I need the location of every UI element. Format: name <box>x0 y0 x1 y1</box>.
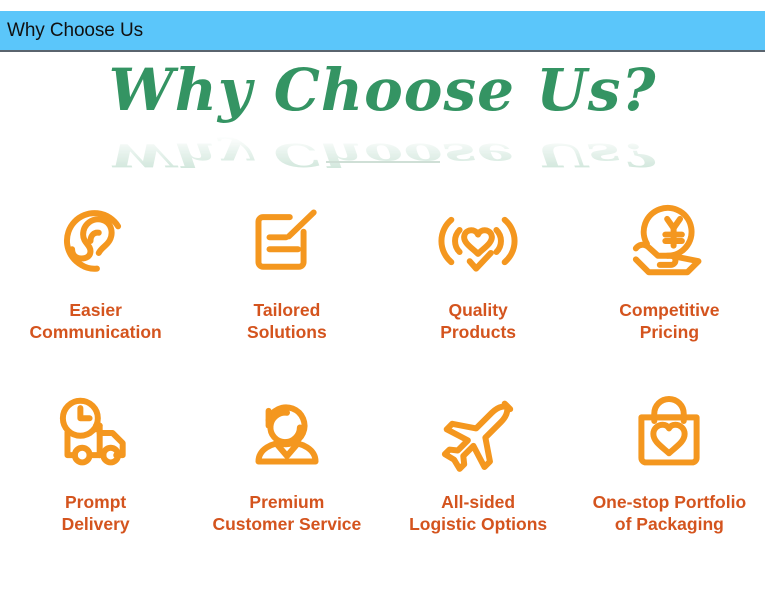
feature-label: Premium Customer Service <box>212 491 361 535</box>
page-content: Why Choose Us? Why Choose Us? Easier Com… <box>0 53 765 599</box>
delivery-truck-clock-icon <box>50 387 142 479</box>
feature-item-quality-products[interactable]: Quality Products <box>383 195 574 343</box>
heart-signal-check-icon <box>432 195 524 287</box>
heading-divider <box>326 161 440 163</box>
feature-label: Tailored Solutions <box>247 299 327 343</box>
feature-item-all-sided-logistic-options[interactable]: All-sided Logistic Options <box>383 387 574 535</box>
page-heading-block: Why Choose Us? Why Choose Us? <box>0 53 765 165</box>
window-title: Why Choose Us <box>0 20 143 42</box>
feature-label: Easier Communication <box>30 299 162 343</box>
feature-item-easier-communication[interactable]: Easier Communication <box>0 195 191 343</box>
feature-item-one-stop-portfolio-of-packaging[interactable]: One-stop Portfolio of Packaging <box>574 387 765 535</box>
window-titlebar: Why Choose Us <box>0 11 765 52</box>
ear-in-circle-icon <box>50 195 142 287</box>
feature-label: All-sided Logistic Options <box>409 491 547 535</box>
feature-label: Quality Products <box>440 299 516 343</box>
feature-row-1: Easier Communication Tailored Solutions <box>0 195 765 343</box>
headset-agent-icon <box>241 387 333 479</box>
feature-label: Competitive Pricing <box>619 299 719 343</box>
page-heading-reflection: Why Choose Us? <box>0 136 765 175</box>
hand-holding-yen-coin-icon <box>623 195 715 287</box>
feature-item-premium-customer-service[interactable]: Premium Customer Service <box>191 387 382 535</box>
shopping-bag-heart-icon <box>623 387 715 479</box>
feature-item-prompt-delivery[interactable]: Prompt Delivery <box>0 387 191 535</box>
page-title: Why Choose Us? <box>0 55 765 125</box>
feature-row-2: Prompt Delivery Premium Customer Service <box>0 387 765 535</box>
feature-item-competitive-pricing[interactable]: Competitive Pricing <box>574 195 765 343</box>
airplane-icon <box>432 387 524 479</box>
feature-label: One-stop Portfolio of Packaging <box>593 491 747 535</box>
feature-item-tailored-solutions[interactable]: Tailored Solutions <box>191 195 382 343</box>
feature-label: Prompt Delivery <box>62 491 130 535</box>
document-pencil-icon <box>241 195 333 287</box>
